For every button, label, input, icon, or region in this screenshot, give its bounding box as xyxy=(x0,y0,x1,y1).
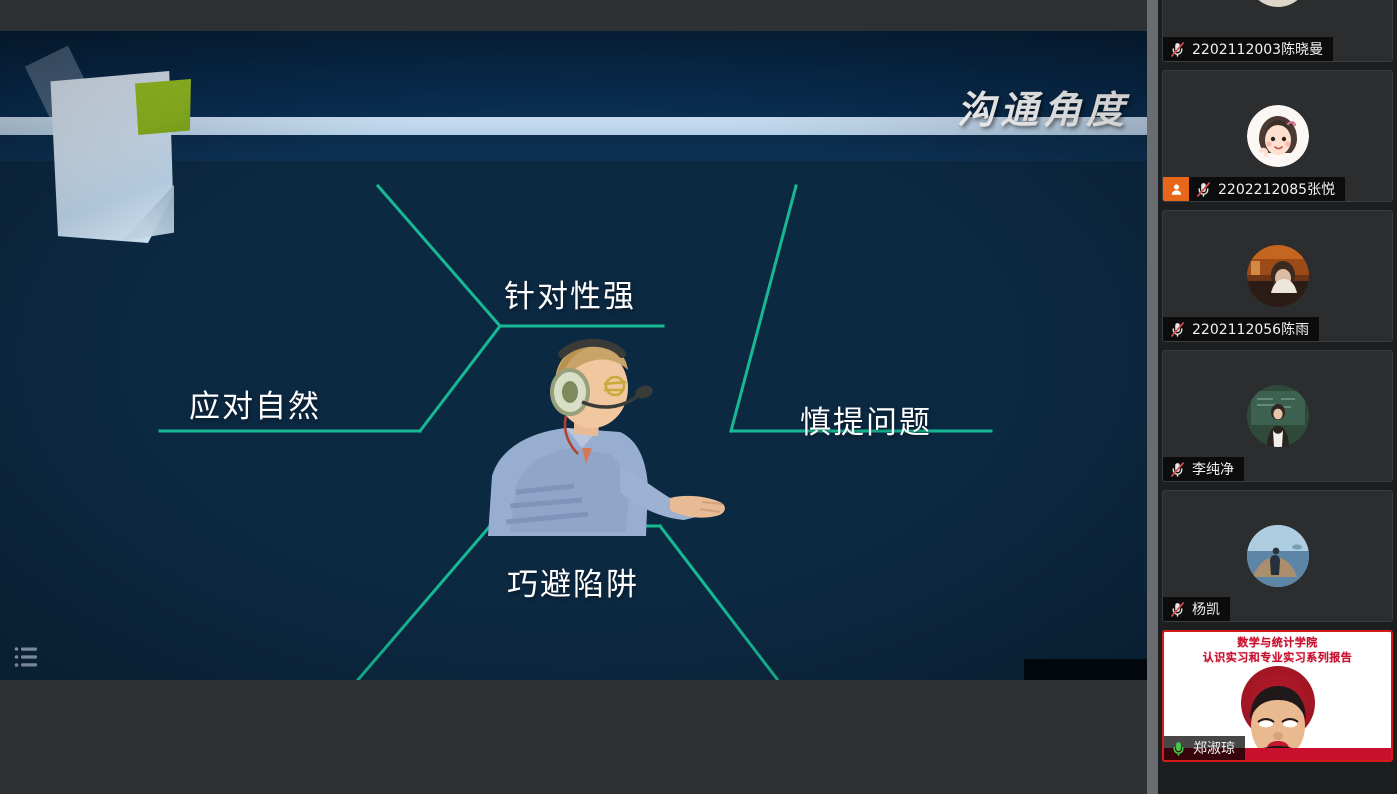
avatar xyxy=(1247,0,1309,7)
bulleted-list-icon[interactable] xyxy=(14,646,38,668)
meeting-window: 沟通角度 xyxy=(0,0,1397,794)
fishbone-label-top: 针对性强 xyxy=(504,271,636,316)
participant-name: 2202112003陈晓曼 xyxy=(1192,39,1323,59)
host-badge xyxy=(1163,177,1189,201)
mic-unmuted-icon xyxy=(1170,740,1187,757)
filmstrip-scrollbar[interactable] xyxy=(1147,0,1158,794)
video-slide-line1: 数学与统计学院 xyxy=(1164,635,1391,650)
participant-filmstrip[interactable]: 2202112003陈晓曼 xyxy=(1158,0,1397,794)
avatar xyxy=(1247,245,1309,307)
participant-tile[interactable]: 2202112003陈晓曼 xyxy=(1162,0,1393,62)
video-slide-line2: 认识实习和专业实习系列报告 xyxy=(1164,650,1391,665)
participant-name: 郑淑琼 xyxy=(1193,738,1235,758)
fishbone-label-right: 慎提问题 xyxy=(800,397,932,442)
slide-video-overlay-region xyxy=(1024,659,1147,680)
participant-tile-active-speaker[interactable]: 数学与统计学院 认识实习和专业实习系列报告 xyxy=(1162,630,1393,762)
shared-screen-slide[interactable]: 沟通角度 xyxy=(0,31,1147,680)
participant-name: 李纯净 xyxy=(1192,459,1234,479)
avatar xyxy=(1247,385,1309,447)
fishbone-label-bottom: 巧避陷阱 xyxy=(507,559,639,604)
participant-name-chip: 李纯净 xyxy=(1163,457,1244,481)
participant-name: 杨凯 xyxy=(1192,599,1220,619)
participant-tile[interactable]: 杨凯 xyxy=(1162,490,1393,622)
mic-muted-icon xyxy=(1195,181,1212,198)
participant-name-chip: 2202112003陈晓曼 xyxy=(1163,37,1333,61)
participant-name-chip: 2202212085张悦 xyxy=(1189,177,1345,201)
mic-muted-icon xyxy=(1169,601,1186,618)
participant-name-chip: 杨凯 xyxy=(1163,597,1230,621)
mic-muted-icon xyxy=(1169,41,1186,58)
participant-name: 2202212085张悦 xyxy=(1218,179,1335,199)
mic-muted-icon xyxy=(1169,461,1186,478)
participant-name-chip: 郑淑琼 xyxy=(1164,736,1245,760)
avatar xyxy=(1247,105,1309,167)
mic-muted-icon xyxy=(1169,321,1186,338)
participant-tile[interactable]: 李纯净 xyxy=(1162,350,1393,482)
participant-name-chip: 2202112056陈雨 xyxy=(1163,317,1319,341)
person-icon xyxy=(1170,183,1183,196)
fishbone-label-left: 应对自然 xyxy=(189,381,321,426)
video-slide-title: 数学与统计学院 认识实习和专业实习系列报告 xyxy=(1164,632,1391,665)
participant-tile[interactable]: 2202212085张悦 xyxy=(1162,70,1393,202)
participant-tile[interactable]: 2202112056陈雨 xyxy=(1162,210,1393,342)
avatar xyxy=(1247,525,1309,587)
presenter-illustration xyxy=(470,336,740,536)
participant-name: 2202112056陈雨 xyxy=(1192,319,1309,339)
